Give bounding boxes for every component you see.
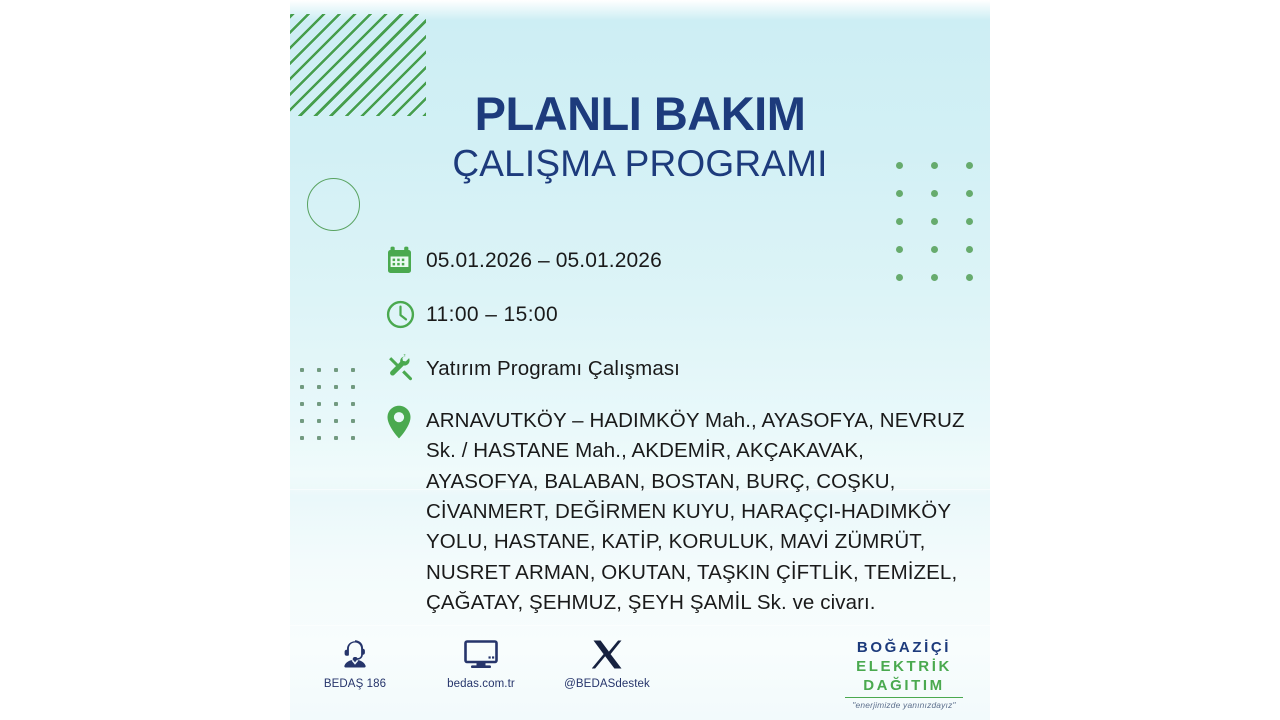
page-subtitle: ÇALIŞMA PROGRAMI [290,145,990,184]
brand-divider [845,697,963,698]
contact-x-account[interactable]: @BEDASdestek [562,636,652,690]
support-agent-icon [310,636,400,672]
poster-footer: BEDAŞ 186 bedas.com.tr [290,636,990,720]
brand-line-3: DAĞITIM [836,678,972,693]
screenshot-root: PLANLI BAKIM ÇALIŞMA PROGRAMI [0,0,1280,720]
poster-heading-block: PLANLI BAKIM ÇALIŞMA PROGRAMI [290,90,990,184]
location-pin-icon [386,403,426,435]
monitor-icon [436,636,526,672]
brand-tagline: "enerjimizde yanınızdayız" [836,701,972,709]
detail-row-work-type: Yatırım Programı Çalışması [386,351,976,385]
tools-icon [386,351,426,385]
contact-x-label: @BEDASdestek [562,678,652,690]
maintenance-affected-areas: ARNAVUTKÖY – HADIMKÖY Mah., AYASOFYA, NE… [426,403,976,618]
calendar-icon [386,243,426,277]
brand-line-1: BOĞAZİÇİ [836,640,972,655]
dot-grid-left-decoration [300,368,368,453]
detail-row-location: ARNAVUTKÖY – HADIMKÖY Mah., AYASOFYA, NE… [386,403,976,618]
maintenance-details: 05.01.2026 – 05.01.2026 11:00 – 15:00 [386,243,976,618]
maintenance-time-range: 11:00 – 15:00 [426,297,558,331]
contact-channels: BEDAŞ 186 bedas.com.tr [310,636,652,690]
brand-line-2: ELEKTRİK [836,659,972,674]
contact-website-label: bedas.com.tr [436,678,526,690]
bedas-logo: BOĞAZİÇİ ELEKTRİK DAĞITIM "enerjimizde y… [836,640,972,710]
maintenance-work-type: Yatırım Programı Çalışması [426,351,680,384]
detail-row-time: 11:00 – 15:00 [386,297,976,331]
planned-maintenance-poster: PLANLI BAKIM ÇALIŞMA PROGRAMI [290,0,990,720]
page-title: PLANLI BAKIM [290,90,990,139]
clock-icon [386,297,426,331]
contact-website[interactable]: bedas.com.tr [436,636,526,690]
contact-phone[interactable]: BEDAŞ 186 [310,636,400,690]
circle-outline-decoration [307,178,360,231]
panel-seam-lower [290,625,990,626]
x-twitter-icon [562,636,652,672]
contact-phone-label: BEDAŞ 186 [310,678,400,690]
maintenance-date-range: 05.01.2026 – 05.01.2026 [426,243,662,277]
detail-row-date: 05.01.2026 – 05.01.2026 [386,243,976,277]
